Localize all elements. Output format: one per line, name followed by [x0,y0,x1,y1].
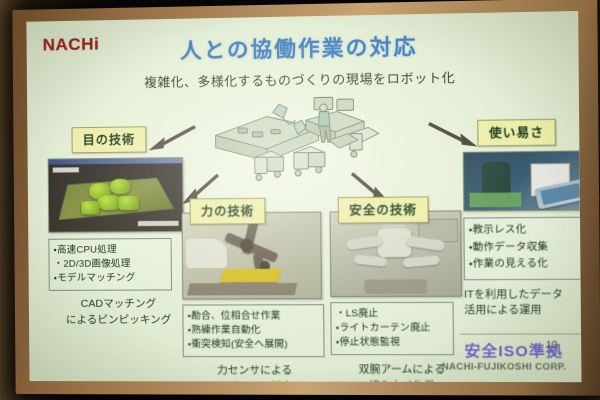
list-item: 2D/3D画像処理 [54,257,166,271]
caption-line: ITを利用したデータ [464,286,582,302]
vision-part [118,196,138,210]
list-item: LS廃止 [336,307,448,321]
vision-part [97,195,121,210]
yellow-fixture [219,269,281,283]
caption-eye-technology: CADマッチング によるピンピッキング [49,297,189,328]
caption-line: CADマッチング [49,297,189,313]
screenshot-label [53,167,79,172]
force-sensor-robot-assembly-photo [182,212,322,300]
robot-base [365,279,427,294]
bullets-ease-of-use: 教示レス化 動作データ収集 作業の見える化 [463,217,581,280]
caption-line: 力センサによる [183,363,327,379]
screenshot-titlebar [49,158,182,165]
caption-ease-of-use: ITを利用したデータ 活用による運用 [464,286,582,318]
list-item: ライトカーテン廃止 [336,321,448,335]
bullets-force-technology: 勘合、位相合せ作業 熟練作業自動化 衝突検知(安全へ展開) [182,304,324,357]
presentation-slide: NACHi 人との協働作業の対応 複雑化、多様化するものづくりの現場をロボット化 [26,11,581,382]
chip-safety-technology: 安全の技術 [338,196,429,223]
page-title: 人との協働作業の対応 [27,27,579,67]
caption-line: 組み立て作業 [331,378,473,382]
column-eye-technology: 目の技術 高速CPU処理 2D/3D画像処理 モデルマッチング [47,126,188,328]
projection-room: NACHi 人との協働作業の対応 複雑化、多様化するものづくりの現場をロボット化 [0,0,600,400]
list-item: 停止状態監視 [336,335,448,349]
projection-screen: NACHi 人との協働作業の対応 複雑化、多様化するものづくりの現場をロボット化 [12,0,600,396]
list-item: 教示レス化 [469,222,582,240]
divider [460,334,581,335]
list-item: モデルマッチング [54,271,166,285]
chip-ease-of-use: 使い易さ [477,119,556,147]
vision-part [81,201,99,214]
list-item: 作業の見える化 [469,256,582,274]
column-ease-of-use: 使い易さ 教示レス化 動作データ収集 作業の見える化 ITを利用したデータ 活用… [462,118,581,318]
list-item: 熟練作業自動化 [188,323,319,337]
green-machine [469,193,521,207]
bullets-eye-technology: 高速CPU処理 2D/3D画像処理 モデルマッチング [48,238,172,291]
screenshot-statusbar [138,221,179,226]
column-safety-technology: 安全の技術 LS廃止 ライトカーテン廃止 停止状態監視 [329,196,473,382]
list-item: 衝突検知(安全へ展開) [188,337,319,351]
3d-vision-bin-picking-screenshot [48,157,184,233]
page-number: 13 [546,340,558,351]
caption-line: によるピンピッキング [49,312,189,328]
chip-eye-technology: 目の技術 [71,126,146,153]
bullets-safety-technology: LS廃止 ライトカーテン廃止 停止状態監視 [330,302,454,356]
list-item: 動作データ収集 [469,239,582,257]
vision-part [110,179,130,194]
footer-company-name: NACHI-FUJIKOSHI CORP. [442,361,567,371]
chip-force-technology: 力の技術 [190,198,266,225]
operator-figure [482,162,511,196]
list-item: 勘合、位相合せ作業 [187,309,318,323]
robot-arm-segment [403,255,440,267]
column-force-technology: 力の技術 勘合、位相合せ作業 熟練作業自動化 衝突検知(安全へ展開) [181,197,327,382]
workpiece [186,239,227,268]
caption-line: 活用による運用 [464,302,581,318]
slide-subtitle: 複雑化、多様化するものづくりの現場をロボット化 [27,65,579,93]
tablet-teaching-pendant-photo [463,150,582,211]
list-item: 高速CPU処理 [53,243,165,257]
caption-force-technology: 力センサによる ロボットの組立 [183,363,327,382]
work-bench [187,283,297,295]
